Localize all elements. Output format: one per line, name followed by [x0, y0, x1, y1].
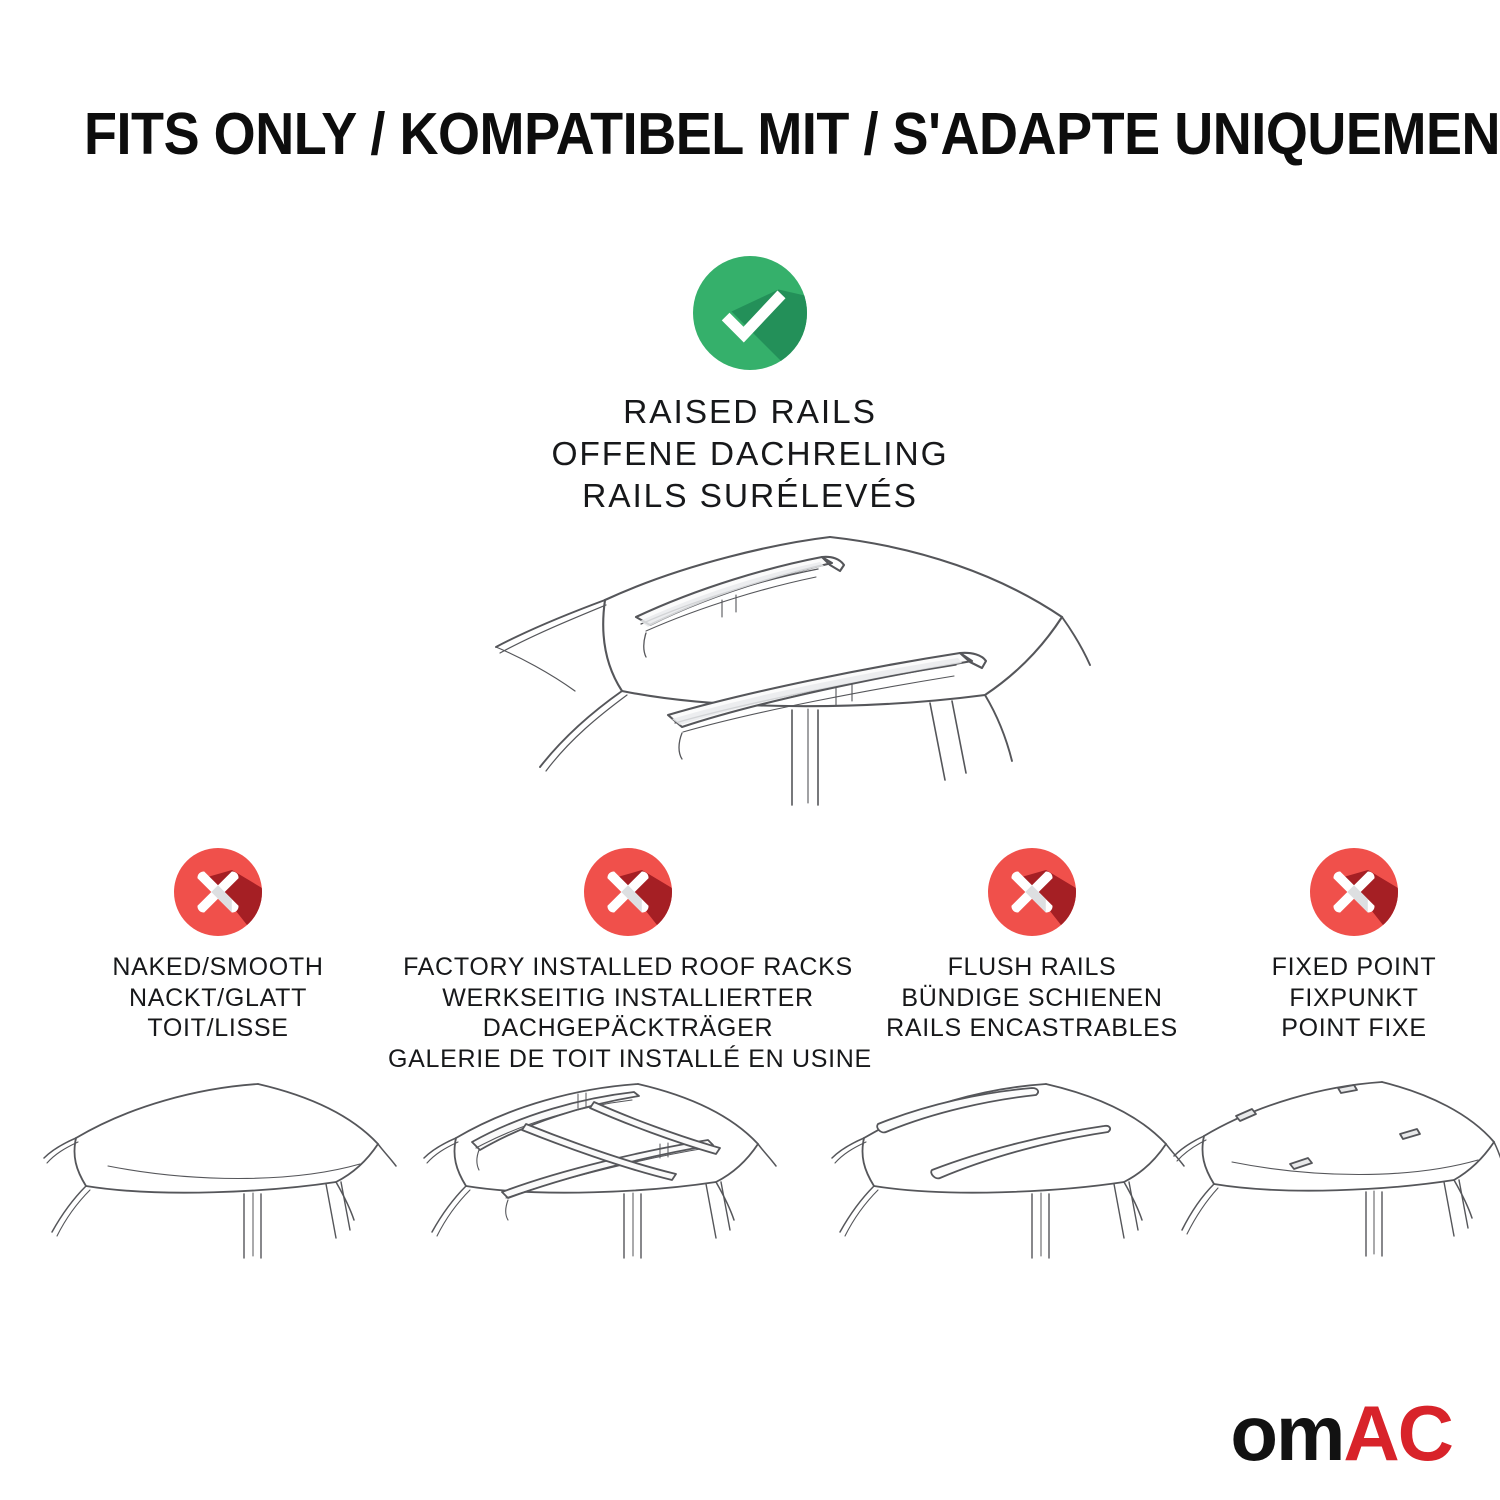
- rejected-item-naked-smooth: NAKED/SMOOTH NACKT/GLATT TOIT/LISSE: [38, 848, 398, 1044]
- rejected-label-block: FACTORY INSTALLED ROOF RACKS WERKSEITIG …: [388, 952, 868, 1074]
- rejected-label-block: FLUSH RAILS BÜNDIGE SCHIENEN RAILS ENCAS…: [862, 952, 1202, 1044]
- x-circle-icon: [174, 848, 262, 936]
- approved-label-block: RAISED RAILS OFFENE DACHRELING RAILS SUR…: [0, 392, 1500, 518]
- page-title: FITS ONLY / KOMPATIBEL MIT / S'ADAPTE UN…: [84, 104, 1310, 166]
- rejected-label-line: WERKSEITIG INSTALLIERTER: [388, 983, 868, 1014]
- rejected-label-line: FIXED POINT: [1198, 952, 1500, 983]
- rejected-label-line: BÜNDIGE SCHIENEN: [862, 983, 1202, 1014]
- check-circle-icon: [693, 256, 807, 370]
- x-circle-icon: [584, 848, 672, 936]
- x-circle-icon: [1310, 848, 1398, 936]
- rejected-label-line: NAKED/SMOOTH: [38, 952, 398, 983]
- rejected-label-line: POINT FIXE: [1198, 1013, 1500, 1044]
- x-circle-icon: [988, 848, 1076, 936]
- rejected-item-factory-roof-racks: FACTORY INSTALLED ROOF RACKS WERKSEITIG …: [388, 848, 868, 1074]
- rejected-label-line: FIXPUNKT: [1198, 983, 1500, 1014]
- approved-label-de: OFFENE DACHRELING: [0, 434, 1500, 476]
- rejected-label-block: NAKED/SMOOTH NACKT/GLATT TOIT/LISSE: [38, 952, 398, 1044]
- car-roof-flush-rails-illustration: [818, 1058, 1190, 1298]
- omac-logo: om AC: [1230, 1394, 1452, 1472]
- car-roof-factory-racks-illustration: [410, 1058, 782, 1298]
- rejected-label-line: FACTORY INSTALLED ROOF RACKS: [388, 952, 868, 983]
- approved-fitment-section: RAISED RAILS OFFENE DACHRELING RAILS SUR…: [0, 256, 1500, 518]
- logo-text-om: om: [1230, 1394, 1343, 1472]
- rejected-item-fixed-point: FIXED POINT FIXPUNKT POINT FIXE: [1198, 848, 1500, 1044]
- car-roof-raised-rails-illustration: [400, 505, 1100, 825]
- rejected-item-flush-rails: FLUSH RAILS BÜNDIGE SCHIENEN RAILS ENCAS…: [862, 848, 1202, 1044]
- rejected-label-line: NACKT/GLATT: [38, 983, 398, 1014]
- rejected-label-line: DACHGEPÄCKTRÄGER: [388, 1013, 868, 1044]
- rejected-label-line: FLUSH RAILS: [862, 952, 1202, 983]
- rejected-label-block: FIXED POINT FIXPUNKT POINT FIXE: [1198, 952, 1500, 1044]
- rejected-label-line: TOIT/LISSE: [38, 1013, 398, 1044]
- rejected-label-line: RAILS ENCASTRABLES: [862, 1013, 1202, 1044]
- logo-text-ac: AC: [1343, 1394, 1452, 1472]
- car-roof-fixed-point-illustration: [1162, 1058, 1500, 1298]
- approved-label-en: RAISED RAILS: [0, 392, 1500, 434]
- car-roof-naked-illustration: [30, 1058, 402, 1298]
